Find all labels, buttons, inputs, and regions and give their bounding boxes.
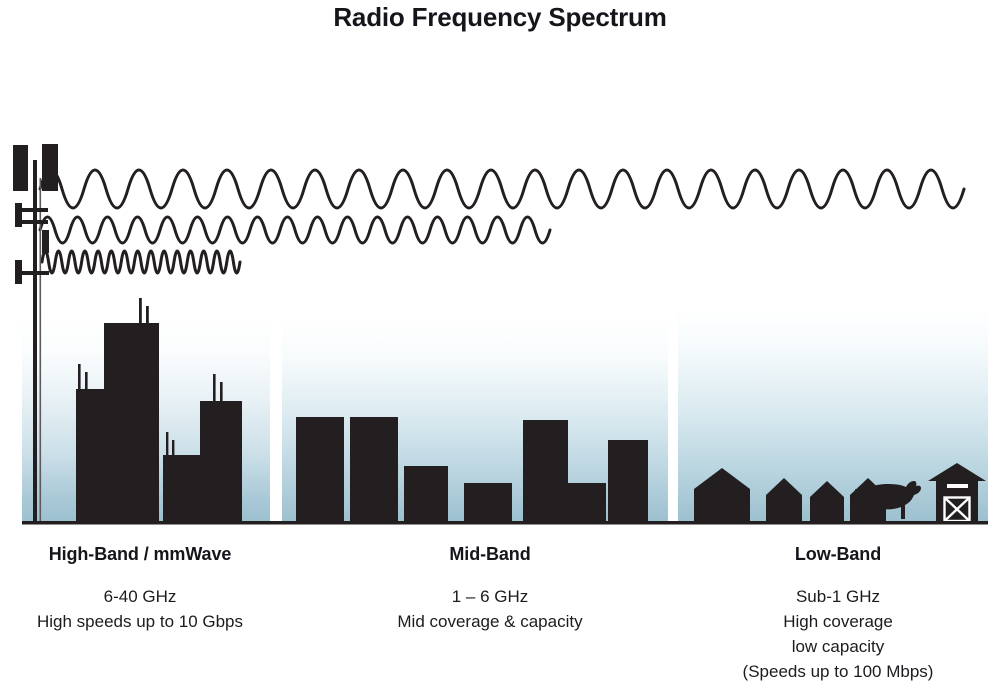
building — [163, 455, 204, 521]
band-description-low-band: Sub-1 GHz High coverage low capacity (Sp… — [678, 584, 998, 684]
building — [568, 483, 606, 521]
band-description-mid-band: 1 – 6 GHz Mid coverage & capacity — [330, 584, 650, 634]
barn-hayloft-window — [947, 484, 968, 488]
band-captions: High-Band / mmWave 6-40 GHz High speeds … — [0, 544, 1000, 700]
band-title-mid-band: Mid-Band — [330, 544, 650, 564]
building-spire — [166, 432, 168, 456]
building — [200, 401, 242, 521]
tower-antenna-panel-3 — [42, 230, 49, 253]
tower-crossbar-4 — [22, 271, 49, 275]
band-detail-low-band-1: High coverage — [678, 609, 998, 634]
band-column-high-band: High-Band / mmWave 6-40 GHz High speeds … — [8, 544, 272, 634]
low-band-wave — [40, 170, 964, 208]
tower-antenna-panel-left — [13, 145, 28, 191]
high-band-wave — [42, 251, 240, 273]
building — [464, 483, 512, 521]
band-column-mid-band: Mid-Band 1 – 6 GHz Mid coverage & capaci… — [330, 544, 650, 634]
tower-mast-inner — [40, 178, 42, 522]
band-frequency-high-band: 6-40 GHz — [8, 584, 272, 609]
wave-group — [40, 170, 964, 273]
band-frequency-mid-band: 1 – 6 GHz — [330, 584, 650, 609]
tower-antenna-panel-4 — [15, 260, 22, 284]
band-description-high-band: 6-40 GHz High speeds up to 10 Gbps — [8, 584, 272, 634]
tower-antenna-panel-2 — [15, 203, 22, 227]
band-detail-low-band-3: (Speeds up to 100 Mbps) — [678, 659, 998, 684]
building — [350, 417, 398, 521]
band-title-low-band: Low-Band — [678, 544, 998, 564]
building — [404, 466, 448, 521]
band-column-low-band: Low-Band Sub-1 GHz High coverage low cap… — [678, 544, 998, 684]
band-detail-mid-band: Mid coverage & capacity — [330, 609, 650, 634]
building-spire — [172, 440, 174, 456]
ground-line — [22, 521, 988, 525]
tower-crossbar-2b — [22, 220, 48, 224]
tower-mast — [33, 160, 37, 522]
band-title-high-band: High-Band / mmWave — [8, 544, 272, 564]
band-detail-low-band-2: low capacity — [678, 634, 998, 659]
building — [523, 420, 568, 521]
building — [608, 440, 648, 521]
building — [76, 389, 108, 521]
infographic-root: Radio Frequency Spectrum — [0, 0, 1000, 700]
building — [296, 417, 344, 521]
mid-band-wave — [40, 217, 550, 243]
tower-crossbar-2a — [22, 208, 48, 212]
band-detail-high-band: High speeds up to 10 Gbps — [8, 609, 272, 634]
band-frequency-low-band: Sub-1 GHz — [678, 584, 998, 609]
tower-antenna-panel-right — [42, 144, 58, 191]
building-spire — [139, 298, 142, 326]
building — [104, 323, 159, 521]
